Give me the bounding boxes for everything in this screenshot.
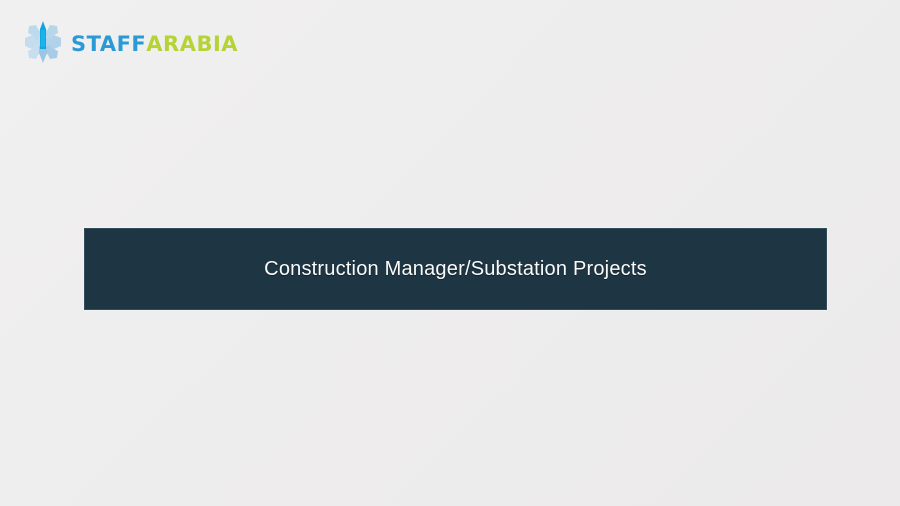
slide-canvas: STAFFarabia Construction Manager/Substat… xyxy=(0,0,900,506)
brand-wordmark: STAFFarabia xyxy=(71,27,238,57)
title-banner: Construction Manager/Substation Projects xyxy=(84,228,827,310)
brand-arabia-text: arabia xyxy=(146,27,238,57)
brand-staff-text: STAFF xyxy=(71,27,146,57)
slide-title: Construction Manager/Substation Projects xyxy=(264,258,647,281)
snowflake-asterisk-icon xyxy=(22,19,64,65)
brand-logo[interactable]: STAFFarabia xyxy=(22,18,238,66)
